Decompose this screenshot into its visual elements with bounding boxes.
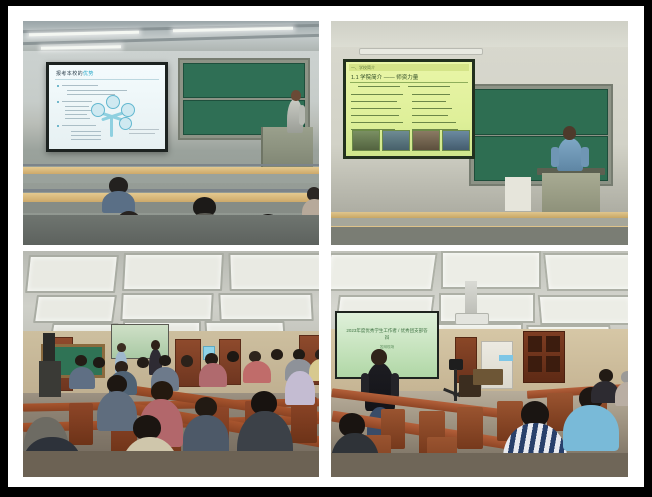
ceiling-coffer	[25, 255, 119, 293]
slide-text-line	[67, 90, 127, 91]
bench-desk	[331, 212, 628, 218]
floor	[331, 227, 628, 245]
slide-text-line	[412, 115, 448, 116]
cabinet-cell	[528, 356, 542, 372]
presenter-body	[557, 138, 583, 171]
av-cabinet	[39, 361, 61, 397]
ceiling-coffer	[441, 251, 541, 289]
slide-text-line	[71, 139, 101, 140]
slide-title: 2023年度优秀学生工作者 / 优秀团支部答辩	[345, 327, 429, 341]
bench-desk	[23, 167, 319, 174]
ceiling-coffer	[33, 295, 117, 323]
ceiling-coffer	[538, 295, 628, 325]
audience-head	[227, 351, 239, 362]
projection-screen-roller	[359, 48, 483, 55]
scene-lecture-hall-podium: 一、学校简介 1.1 学院简介 —— 师资力量	[331, 21, 628, 245]
bench-rail	[23, 189, 319, 192]
ceiling-coffer	[120, 293, 213, 321]
slide-subtitle: 答辩现场	[351, 345, 423, 350]
audience-head	[195, 397, 217, 417]
audience-body	[199, 363, 227, 387]
slide-text-line	[71, 131, 101, 132]
presenter-arm	[551, 147, 559, 167]
slide-text-line	[65, 114, 87, 115]
audience-body	[102, 191, 135, 213]
slide-text-line	[412, 101, 446, 102]
slide-text-line	[62, 101, 92, 102]
display-cabinet	[523, 331, 565, 383]
photo-top-right[interactable]: 一、学校简介 1.1 学院简介 —— 师资力量	[331, 21, 628, 245]
slide-text-line	[62, 125, 96, 126]
slide-bullet	[57, 125, 59, 127]
slide-thumbnail	[352, 130, 380, 151]
presenter-head	[563, 126, 576, 140]
podium	[542, 173, 600, 217]
presentation-slide: 报考本校的优势	[49, 65, 165, 149]
audience-body	[97, 391, 137, 431]
tree-diagram-node	[106, 95, 120, 109]
scene-seminar-audience	[23, 251, 319, 477]
side-table	[473, 369, 503, 385]
slide-text-line	[65, 118, 90, 119]
floor	[23, 215, 319, 245]
slide-text-line	[129, 133, 155, 134]
audience-body	[563, 405, 619, 451]
presentation-slide: 一、学校简介 1.1 学院简介 —— 师资力量	[346, 62, 472, 156]
tree-diagram-stem	[110, 117, 113, 137]
floor	[331, 453, 628, 477]
ceiling-projector	[455, 313, 489, 325]
chair	[457, 407, 483, 449]
bench-desk	[23, 193, 319, 202]
audience-head	[181, 355, 193, 367]
slide-text-line	[351, 94, 403, 95]
audience-head	[75, 355, 87, 366]
photo-bottom-left[interactable]	[23, 251, 319, 477]
collage-mat: 报考本校的优势	[8, 6, 644, 487]
audience-head	[151, 381, 173, 401]
slide-text-line	[62, 85, 98, 86]
collage-frame: 报考本校的优势	[0, 0, 652, 497]
audience-head	[271, 349, 283, 360]
slide-thumbnail	[412, 130, 440, 151]
speaker-head	[371, 349, 387, 365]
wall-panel	[505, 177, 531, 211]
speaker-arm	[299, 105, 305, 125]
chalkboard-panel-upper	[474, 89, 608, 135]
photo-bottom-right[interactable]: 2023年度优秀学生工作者 / 优秀团支部答辩 答辩现场	[331, 251, 628, 477]
cabinet-cell	[546, 356, 560, 372]
slide-text-line	[129, 129, 159, 130]
projection-screen: 一、学校简介 1.1 学院简介 —— 师资力量	[343, 59, 475, 159]
ceiling-coffer	[122, 253, 224, 291]
audience-body	[69, 367, 95, 389]
slide-text-line	[412, 122, 456, 123]
presenter-head	[151, 340, 160, 350]
slide-title: 1.1 学院简介 —— 师资力量	[351, 73, 418, 81]
tree-diagram-node	[119, 117, 132, 130]
ceiling-coffer	[218, 293, 313, 321]
audience-head	[159, 355, 171, 366]
slide-title-rule	[350, 82, 468, 83]
slide-thumbnail	[382, 130, 410, 151]
slide-bullet	[57, 101, 59, 103]
tree-diagram-node	[121, 103, 135, 117]
slide-text-line	[358, 86, 400, 87]
slide-text-line	[351, 115, 399, 116]
slide-text-line	[67, 94, 115, 95]
presenter-head	[117, 343, 126, 352]
slide-title-rule	[55, 79, 159, 80]
tree-diagram-node	[91, 103, 105, 117]
slide-header: 一、学校简介	[351, 65, 375, 71]
presenter-arm	[581, 147, 589, 167]
slide-text-line	[412, 94, 450, 95]
speaker-stand	[43, 333, 55, 363]
cabinet-cell	[528, 336, 542, 352]
slide-title: 报考本校的优势	[56, 70, 94, 77]
audience-head	[93, 357, 105, 368]
audience-body	[243, 361, 271, 383]
cabinet-cell	[546, 336, 560, 352]
slide-text-line	[71, 135, 101, 136]
audience-body	[285, 371, 315, 405]
slide-bullet	[57, 85, 59, 87]
slide-text-line	[65, 110, 91, 111]
photo-grid: 报考本校的优势	[8, 6, 644, 487]
audience-head	[137, 357, 149, 368]
door-placard	[499, 355, 513, 361]
speaker-head	[291, 90, 301, 101]
scene-tiered-lecture-hall: 报考本校的优势	[23, 21, 319, 245]
ceiling-coffer	[543, 253, 628, 291]
projection-screen: 报考本校的优势	[46, 62, 168, 152]
slide-text-line	[65, 106, 89, 107]
slide-text-line	[351, 108, 401, 109]
bench-rail	[23, 164, 319, 166]
ceiling	[331, 21, 628, 47]
scene-presentation-front: 2023年度优秀学生工作者 / 优秀团支部答辩 答辩现场	[331, 251, 628, 477]
slide-text-line	[351, 101, 397, 102]
photo-top-left[interactable]: 报考本校的优势	[23, 21, 319, 245]
slide-text-line	[412, 108, 452, 109]
chair	[69, 403, 93, 445]
ceiling-coffer	[228, 253, 319, 291]
ceiling-coffer	[331, 253, 438, 291]
floor	[23, 451, 319, 477]
slide-text-line	[351, 122, 403, 123]
slide-text-line	[408, 86, 450, 87]
slide-thumbnail	[442, 130, 470, 151]
chalkboard-panel-upper	[183, 63, 305, 98]
